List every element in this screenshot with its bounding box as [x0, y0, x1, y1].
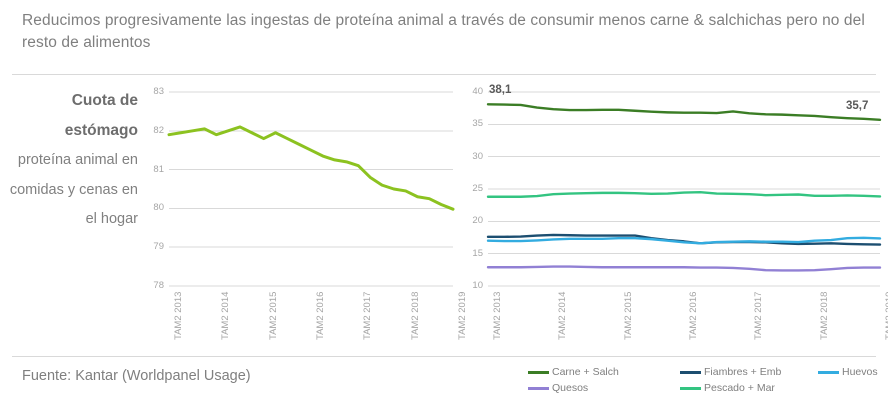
- x-tick-label: TAM2 2017: [362, 292, 373, 340]
- x-tick-label: TAM2 2014: [557, 292, 568, 340]
- legend-swatch-icon: [818, 371, 839, 374]
- y-tick-label: 30: [462, 152, 483, 162]
- chart-left-cuota-estomago: 787980818283TAM2 2013TAM2 2014TAM2 2015T…: [145, 86, 455, 348]
- x-tick-label: TAM2 2015: [268, 292, 279, 340]
- divider-top: [12, 74, 876, 75]
- x-tick-label: TAM2 2016: [315, 292, 326, 340]
- source-note: Fuente: Kantar (Worldpanel Usage): [22, 368, 251, 384]
- divider-bottom: [12, 356, 876, 357]
- legend-item[interactable]: Huevos: [818, 366, 878, 378]
- page-title: Reducimos progresivamente las ingestas d…: [22, 10, 868, 54]
- y-tick-label: 82: [145, 126, 164, 136]
- legend-label: Fiambres + Emb: [704, 366, 781, 378]
- x-tick-label: TAM2 2015: [623, 292, 634, 340]
- legend-label: Pescado + Mar: [704, 382, 775, 394]
- y-tick-label: 25: [462, 184, 483, 194]
- legend-item[interactable]: Carne + Salch: [528, 366, 619, 378]
- slide-root: Reducimos progresivamente las ingestas d…: [0, 0, 888, 411]
- series-line: [169, 127, 453, 209]
- y-tick-label: 40: [462, 87, 483, 97]
- y-tick-label: 80: [145, 203, 164, 213]
- x-tick-label: TAM2 2018: [819, 292, 830, 340]
- legend-label: Huevos: [842, 366, 878, 378]
- chart-legend: Carne + SalchFiambres + EmbHuevosQuesosP…: [528, 366, 880, 400]
- legend-item[interactable]: Quesos: [528, 382, 588, 394]
- data-label: 38,1: [489, 84, 511, 96]
- legend-swatch-icon: [528, 371, 549, 374]
- data-label: 35,7: [846, 100, 868, 112]
- legend-item[interactable]: Fiambres + Emb: [680, 366, 781, 378]
- legend-swatch-icon: [680, 387, 701, 390]
- left-caption: Cuota de estómago proteína animal en com…: [8, 86, 138, 234]
- legend-label: Carne + Salch: [552, 366, 619, 378]
- x-tick-label: TAM2 2019: [884, 292, 888, 340]
- legend-item[interactable]: Pescado + Mar: [680, 382, 775, 394]
- y-tick-label: 79: [145, 242, 164, 252]
- left-caption-strong: Cuota de estómago: [65, 92, 138, 139]
- series-line: [488, 267, 880, 271]
- x-tick-label: TAM2 2014: [220, 292, 231, 340]
- x-tick-label: TAM2 2017: [753, 292, 764, 340]
- y-tick-label: 35: [462, 119, 483, 129]
- plot-area: [145, 86, 455, 348]
- y-tick-label: 81: [145, 165, 164, 175]
- legend-swatch-icon: [680, 371, 701, 374]
- y-tick-label: 83: [145, 87, 164, 97]
- x-tick-label: TAM2 2013: [492, 292, 503, 340]
- y-tick-label: 10: [462, 281, 483, 291]
- legend-label: Quesos: [552, 382, 588, 394]
- legend-swatch-icon: [528, 387, 549, 390]
- series-line: [488, 104, 880, 120]
- x-tick-label: TAM2 2016: [688, 292, 699, 340]
- chart-right-categorias: 10152025303540TAM2 2013TAM2 2014TAM2 201…: [462, 86, 882, 348]
- x-tick-label: TAM2 2013: [173, 292, 184, 340]
- y-tick-label: 78: [145, 281, 164, 291]
- y-tick-label: 20: [462, 216, 483, 226]
- x-tick-label: TAM2 2018: [410, 292, 421, 340]
- y-tick-label: 15: [462, 249, 483, 259]
- left-caption-rest: proteína animal en comidas y cenas en el…: [10, 152, 138, 226]
- series-line: [488, 192, 880, 197]
